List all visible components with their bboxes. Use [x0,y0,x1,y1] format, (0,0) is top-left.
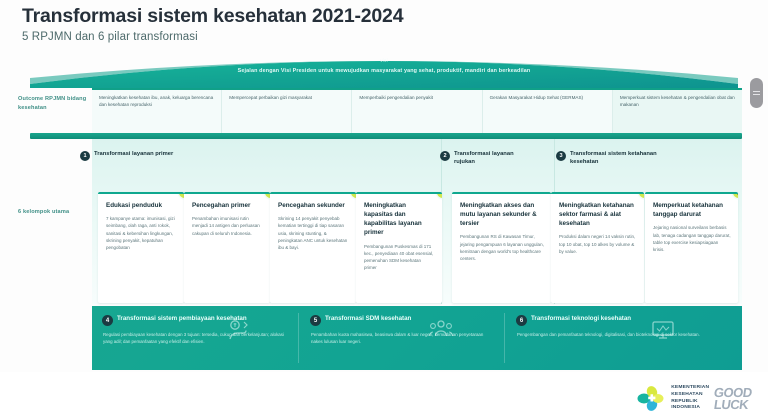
pillar-body: Pengembangan dan pemanfaatan teknologi, … [516,331,716,338]
pillar-body: Penambahan kuota mahasiswa, beasiswa dal… [310,331,495,345]
card-body: Produksi dalam negeri 14 vaksin rutin, t… [559,233,637,255]
kemenkes-logo-icon [636,385,666,412]
card-c[interactable]: c Pencegahan sekunder Skrining 14 penyak… [270,192,356,303]
pillar-header-1[interactable]: 1 Transformasi layanan primer [80,150,330,161]
page-title: Transformasi sistem kesehatan 2021-2024 [22,6,403,27]
pillar-label: Transformasi layanan primer [94,150,173,158]
card-f[interactable]: f Meningkatkan ketahanan sektor farmasi … [551,192,644,303]
monitor-icon [650,319,676,341]
pillar-4[interactable]: 4 Transformasi sistem pembiayaan kesehat… [102,315,292,345]
card-title: Meningkatkan akses dan mutu layanan seku… [460,201,544,228]
page-subtitle: 5 RPJMN dan 6 pilar transformasi [22,31,403,43]
page-header: Transformasi sistem kesehatan 2021-2024 … [22,6,403,43]
pillar-label: Transformasi SDM kesehatan [325,315,411,324]
card-body: Pembangunan Puskesmas di 171 kec., penye… [364,243,435,272]
people-group-icon [428,319,454,341]
vertical-scrollbar[interactable] [750,78,763,124]
roof-vision-statement: Sejalan dengan Visi Presiden untuk mewuj… [0,68,768,74]
watermark-line-2: LUCK [713,399,752,410]
card-badge: d [437,192,442,198]
pillar-body: Regulasi pembiayaan kesehatan dengan 3 t… [102,331,292,345]
pillar-label: Transformasi teknologi kesehatan [531,315,631,324]
ministry-line-4: INDONESIA [671,405,709,412]
card-badge: g [733,192,738,198]
ministry-name: KEMENTERIAN KESEHATAN REPUBLIK INDONESIA [671,385,709,411]
ministry-line-2: KESEHATAN [671,392,709,399]
pillar-number: 6 [516,315,527,326]
ministry-line-1: KEMENTERIAN [671,385,709,392]
ministry-logo-block: KEMENTERIAN KESEHATAN REPUBLIK INDONESIA… [636,385,752,412]
card-b[interactable]: b Pencegahan primer Penambahan imunisasi… [184,192,270,303]
outcome-cell: Gerakan Masyarakat Hidup Sehat (GERMAS) [483,90,613,134]
pillar-5[interactable]: 5 Transformasi SDM kesehatan Penambahan … [310,315,495,345]
outcome-base-bar [30,133,742,139]
scrollbar-thumb[interactable] [750,78,763,108]
side-label-outcome: Outcome RPJMN bidang kesehatan [18,95,90,112]
card-title: Meningkatkan kapasitas dan kapabilitas l… [364,201,435,238]
card-body: 7 kampanye utama: imunisasi, gizi seimba… [106,215,177,251]
infographic-canvas: Transformasi sistem kesehatan 2021-2024 … [0,0,768,420]
pillar-number: 2 [440,151,450,161]
pillar-6[interactable]: 6 Transformasi teknologi kesehatan Penge… [516,315,716,338]
pillar-label: Transformasi sistem ketahanan kesehatan [570,150,676,167]
card-title: Pencegahan sekunder [278,201,349,210]
pillar-number: 4 [102,315,113,326]
outcome-cell: Memperbaiki pengendalian penyakit [352,90,482,134]
pillar-label: Transformasi layanan rujukan [454,150,535,167]
card-e[interactable]: Meningkatkan akses dan mutu layanan seku… [452,192,551,303]
footer: KEMENTERIAN KESEHATAN REPUBLIK INDONESIA… [0,372,768,420]
card-d[interactable]: d Meningkatkan kapasitas dan kapabilitas… [356,192,442,303]
side-label-groups: 6 kelompok utama [18,208,90,217]
card-g[interactable]: g Memperkuat ketahanan tanggap darurat J… [645,192,738,303]
outcome-cell: Memperkuat sistem kesehatan & pengendali… [613,90,742,134]
card-title: Memperkuat ketahanan tanggap darurat [653,201,731,219]
rpjmn-outcome-band: Meningkatkan kesehatan ibu, anak, keluar… [92,88,742,134]
card-title: Meningkatkan ketahanan sektor farmasi & … [559,201,637,228]
roof-visi-label: visi [0,58,768,63]
pillar-header-2[interactable]: 2 Transformasi layanan rujukan [440,150,535,167]
coin-hand-icon [227,319,253,341]
pillar-number: 1 [80,151,90,161]
card-a[interactable]: a Edukasi penduduk 7 kampanye utama: imu… [98,192,184,303]
card-body: Pembangunan RS di Kawasan Timur, jejarin… [460,233,544,262]
card-body: Jejaring nasional surveilans berbasis la… [653,224,731,253]
card-title: Edukasi penduduk [106,201,177,210]
outcome-cell: Meningkatkan kesehatan ibu, anak, keluar… [92,90,222,134]
card-title: Pencegahan primer [192,201,263,210]
card-body: Penambahan imunisasi rutin menjadi 14 an… [192,215,263,237]
pillar-header-3[interactable]: 3 Transformasi sistem ketahanan kesehata… [556,150,676,167]
card-body: Skrining 14 penyakit penyebab kematian t… [278,215,349,251]
pillar-number: 5 [310,315,321,326]
goodluck-watermark: GOOD LUCK [714,387,752,409]
card-badge: f [639,192,644,198]
bottom-pillars-band: 4 Transformasi sistem pembiayaan kesehat… [92,306,742,370]
outcome-cell: Mempercepat perbaikan gizi masyarakat [222,90,352,134]
pillar-number: 3 [556,151,566,161]
